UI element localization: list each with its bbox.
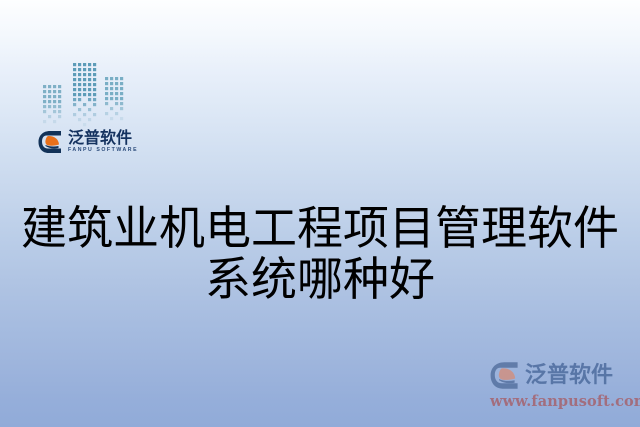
brand-name-en: FANPU SOFTWARE: [68, 148, 138, 153]
brand-name-cn: 泛普软件: [68, 130, 138, 146]
brand-words: 泛普软件 FANPU SOFTWARE: [68, 130, 138, 153]
page-title: 建筑业机电工程项目管理软件 系统哪种好: [0, 203, 640, 305]
headline-line-1: 建筑业机电工程项目管理软件: [0, 203, 640, 254]
pixel-skyline-icon: [36, 58, 156, 130]
brand-lockup: 泛普软件 FANPU SOFTWARE: [38, 130, 138, 154]
watermark-brand-name: 泛普软件: [525, 365, 613, 387]
watermark: 泛普软件 www.fanpusoft.com: [490, 361, 632, 419]
headline-line-2: 系统哪种好: [0, 254, 640, 305]
fanpu-swoosh-logo-icon: [490, 361, 520, 390]
watermark-url: www.fanpusoft.com: [490, 393, 632, 410]
brand-block: 泛普软件 FANPU SOFTWARE: [36, 58, 156, 163]
fanpu-swoosh-logo-icon: [38, 130, 63, 154]
watermark-lockup: 泛普软件: [490, 361, 632, 390]
promo-banner: 泛普软件 FANPU SOFTWARE 建筑业机电工程项目管理软件 系统哪种好 …: [0, 0, 640, 427]
